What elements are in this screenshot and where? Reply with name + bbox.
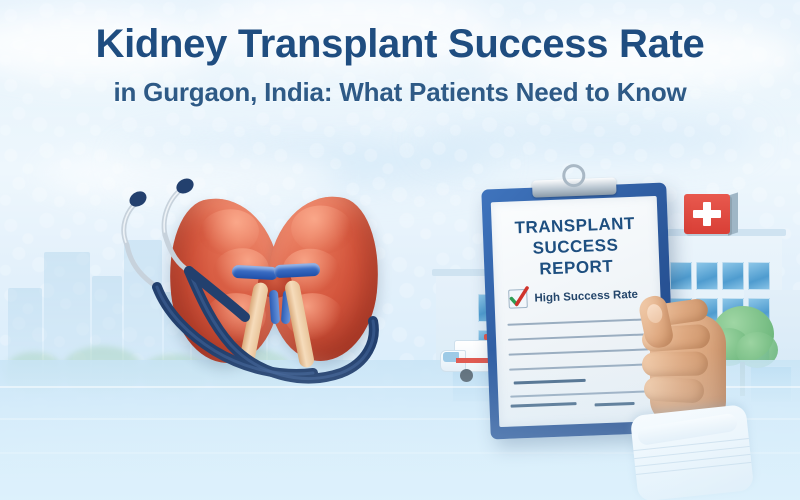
title-block: Kidney Transplant Success Rate in Gurgao… bbox=[0, 24, 800, 108]
checkbox-checked-icon[interactable] bbox=[508, 289, 528, 309]
shirt-cuff bbox=[630, 404, 754, 500]
success-checkbox-row[interactable]: High Success Rate bbox=[508, 285, 638, 309]
red-cross-icon bbox=[684, 194, 730, 234]
promo-banner: TRANSPLANT SUCCESS REPORT High Success R… bbox=[0, 0, 800, 500]
report-title-line-3: REPORT bbox=[493, 255, 660, 281]
page-subtitle: in Gurgaon, India: What Patients Need to… bbox=[0, 77, 800, 108]
hand-holding-clipboard bbox=[640, 292, 770, 500]
stethoscope-icon bbox=[105, 175, 405, 405]
checkbox-label: High Success Rate bbox=[534, 288, 638, 304]
page-title: Kidney Transplant Success Rate bbox=[0, 24, 800, 64]
